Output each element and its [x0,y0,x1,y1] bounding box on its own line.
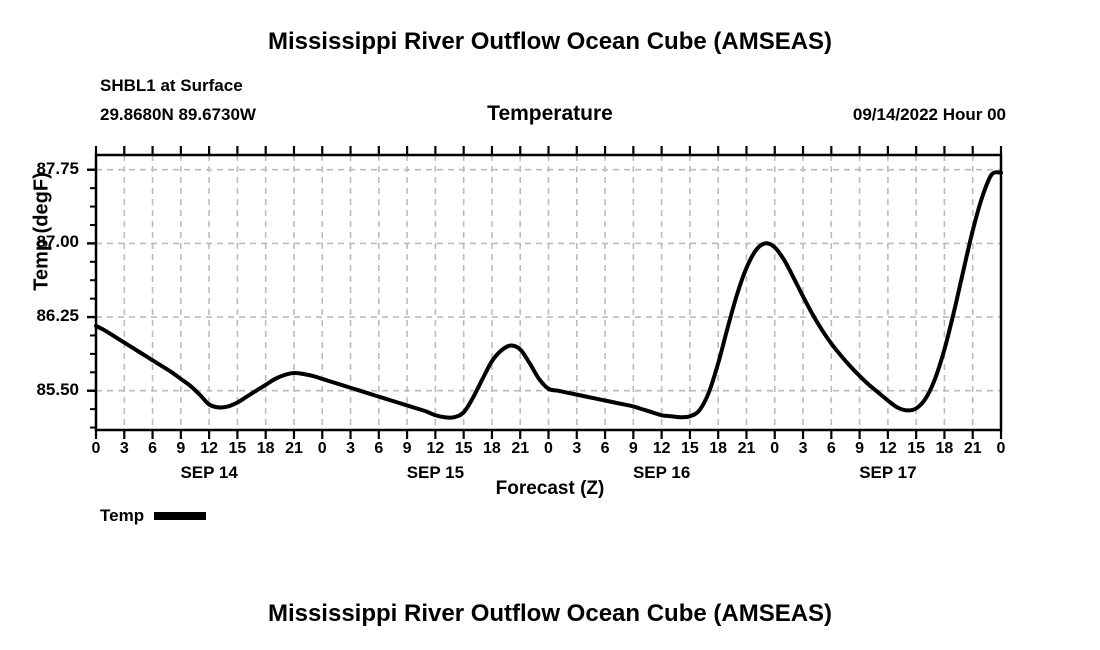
x-tick-label: 3 [562,440,592,458]
x-tick-label: 12 [420,440,450,458]
x-tick-label: 21 [958,440,988,458]
y-tick-label: 85.50 [0,380,79,400]
x-tick-label: 18 [703,440,733,458]
x-tick-label: 0 [986,440,1016,458]
x-tick-label: 0 [307,440,337,458]
x-tick-label: 15 [901,440,931,458]
x-tick-label: 21 [505,440,535,458]
x-tick-label: 0 [534,440,564,458]
y-tick-label: 87.75 [0,159,79,179]
x-tick-label: 3 [336,440,366,458]
x-tick-label: 9 [618,440,648,458]
y-tick-label: 87.00 [0,232,79,252]
x-tick-label: 12 [873,440,903,458]
chart-legend: Temp [100,506,206,526]
axis-ticks [87,146,1001,439]
x-tick-label: 15 [449,440,479,458]
x-tick-label: 9 [392,440,422,458]
x-tick-label: 0 [760,440,790,458]
x-tick-label: 15 [675,440,705,458]
x-tick-label: 6 [816,440,846,458]
x-tick-label: 21 [279,440,309,458]
y-tick-label: 86.25 [0,306,79,326]
x-tick-label: 3 [109,440,139,458]
x-tick-label: 9 [845,440,875,458]
chart-page: Mississippi River Outflow Ocean Cube (AM… [0,0,1100,650]
x-tick-label: 12 [194,440,224,458]
plot-area: Temp (degF) 85.5086.2587.0087.75 0369121… [0,0,1100,650]
x-tick-label: 3 [788,440,818,458]
x-tick-label: 6 [138,440,168,458]
x-tick-label: 18 [251,440,281,458]
x-tick-label: 9 [166,440,196,458]
x-tick-label: 18 [477,440,507,458]
legend-label-temp: Temp [100,506,144,526]
x-tick-label: 21 [731,440,761,458]
x-axis-title: Forecast (Z) [0,478,1100,500]
x-tick-label: 15 [222,440,252,458]
x-tick-label: 18 [929,440,959,458]
page-title-bottom: Mississippi River Outflow Ocean Cube (AM… [0,600,1100,628]
x-tick-label: 6 [590,440,620,458]
chart-svg [0,0,1100,650]
x-tick-label: 6 [364,440,394,458]
x-tick-label: 12 [647,440,677,458]
legend-swatch-temp [154,512,206,520]
x-tick-label: 0 [81,440,111,458]
